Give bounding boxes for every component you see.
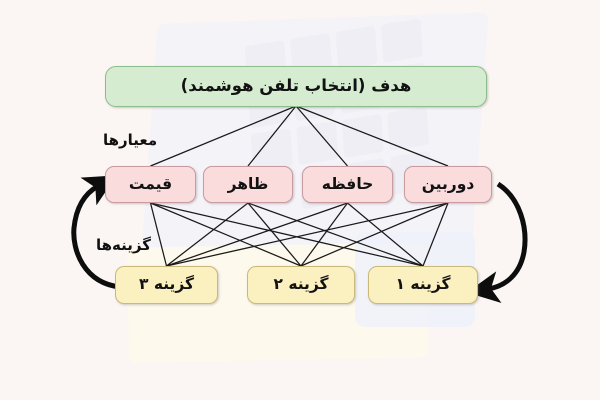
criteria-to-alternatives-links	[151, 203, 449, 266]
goal-node[interactable]: هدف (انتخاب تلفن هوشمند)	[105, 66, 487, 107]
criterion-label: دوربین	[422, 176, 475, 194]
criterion-node-memory[interactable]: حافظه	[302, 166, 393, 203]
goal-to-criteria-links	[151, 106, 449, 166]
alternative-label: گزینه ۳	[139, 276, 194, 294]
criterion-label: قیمت	[129, 176, 172, 194]
alternative-node-1[interactable]: گزینه ۱	[368, 266, 478, 304]
goal-label: هدف (انتخاب تلفن هوشمند)	[181, 77, 412, 96]
alternative-node-3[interactable]: گزینه ۳	[115, 266, 218, 304]
criterion-label: ظاهر	[228, 176, 269, 194]
alternative-node-2[interactable]: گزینه ۲	[247, 266, 355, 304]
right-feedback-arrow	[488, 184, 525, 289]
criterion-label: حافظه	[322, 176, 374, 194]
criterion-node-price[interactable]: قیمت	[105, 166, 196, 203]
criteria-row-label: معیارها	[103, 131, 157, 149]
alternatives-row-label: گزینه‌ها	[96, 236, 151, 254]
criterion-node-appearance[interactable]: ظاهر	[203, 166, 293, 203]
criterion-node-camera[interactable]: دوربین	[404, 166, 492, 203]
alternative-label: گزینه ۲	[273, 276, 328, 294]
connector-layer	[0, 0, 600, 400]
diagram-canvas: هدف (انتخاب تلفن هوشمند) معیارها گزینه‌ه…	[0, 0, 600, 400]
alternative-label: گزینه ۱	[395, 276, 450, 294]
